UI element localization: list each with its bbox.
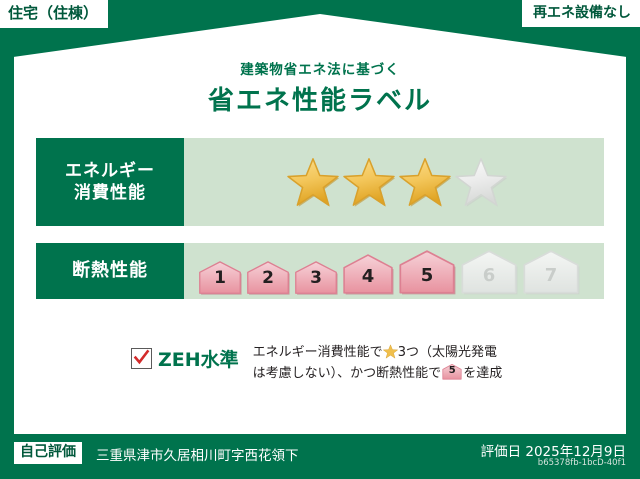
insulation-level-5: 5 (398, 250, 456, 295)
house-icon (294, 261, 338, 295)
house-icon (246, 261, 290, 295)
title-main: 省エネ性能ラベル (0, 80, 640, 117)
insulation-level-7: 7 (522, 250, 580, 295)
insulation-level-scale: 1234567 (184, 243, 604, 299)
energy-performance-key: エネルギー 消費性能 (36, 138, 184, 226)
insulation-level-1: 1 (198, 261, 242, 295)
house-icon (398, 250, 456, 295)
energy-key-line2: 消費性能 (74, 182, 146, 204)
energy-performance-label: 住宅（住棟） 再エネ設備なし 建築物省エネ法に基づく 省エネ性能ラベル エネルギ… (0, 0, 640, 479)
insulation-level-number-inline: 5 (442, 363, 462, 379)
star-icon-inline (383, 344, 398, 359)
house-icon (460, 250, 518, 295)
star-icon-filled (399, 156, 451, 208)
zeh-description: エネルギー消費性能で3つ（太陽光発電 は考慮しない）、かつ断熱性能で5を達成 (239, 340, 604, 384)
energy-performance-row: エネルギー 消費性能 (36, 138, 604, 226)
zeh-desc-line1-b: 3つ（太陽光発電 (398, 345, 497, 360)
insulation-performance-key: 断熱性能 (36, 243, 184, 299)
insulation-level-2: 2 (246, 261, 290, 295)
star-icon-empty (455, 156, 507, 208)
house-icon (198, 261, 242, 295)
badge-building-type: 住宅（住棟） (0, 0, 108, 28)
zeh-desc-line2-a: は考慮しない）、かつ断熱性能で (253, 366, 442, 381)
title-subtitle: 建築物省エネ法に基づく (0, 58, 640, 78)
property-address: 三重県津市久居相川町字西花領下 (96, 444, 299, 464)
zeh-checkbox[interactable] (131, 348, 152, 369)
zeh-desc-line2-b: を達成 (463, 366, 502, 381)
evaluation-type-badge: 自己評価 (14, 442, 82, 464)
zeh-section: ZEH水準 エネルギー消費性能で3つ（太陽光発電 は考慮しない）、かつ断熱性能で… (36, 340, 604, 396)
check-icon (133, 349, 150, 366)
star-icon-filled (343, 156, 395, 208)
insulation-level-3: 3 (294, 261, 338, 295)
house-icon (522, 250, 580, 295)
energy-key-line1: エネルギー (65, 160, 155, 182)
zeh-checkbox-group: ZEH水準 (36, 340, 239, 372)
evaluation-date: 評価日 2025年12月9日 (481, 440, 626, 460)
zeh-desc-line1-a: エネルギー消費性能で (253, 345, 383, 360)
insulation-level-badge-inline: 5 (442, 364, 462, 380)
label-id: b65378fb-1bcD-40f1 (538, 458, 626, 468)
insulation-level-4: 4 (342, 254, 394, 295)
insulation-level-6: 6 (460, 250, 518, 295)
zeh-label: ZEH水準 (158, 345, 239, 372)
label-footer: 自己評価 三重県津市久居相川町字西花領下 評価日 2025年12月9日 b653… (0, 434, 640, 479)
star-icon-filled (287, 156, 339, 208)
badge-renewable-energy: 再エネ設備なし (522, 0, 640, 27)
insulation-performance-row: 断熱性能 1234567 (36, 243, 604, 299)
house-icon (342, 254, 394, 295)
energy-star-rating (184, 138, 604, 226)
